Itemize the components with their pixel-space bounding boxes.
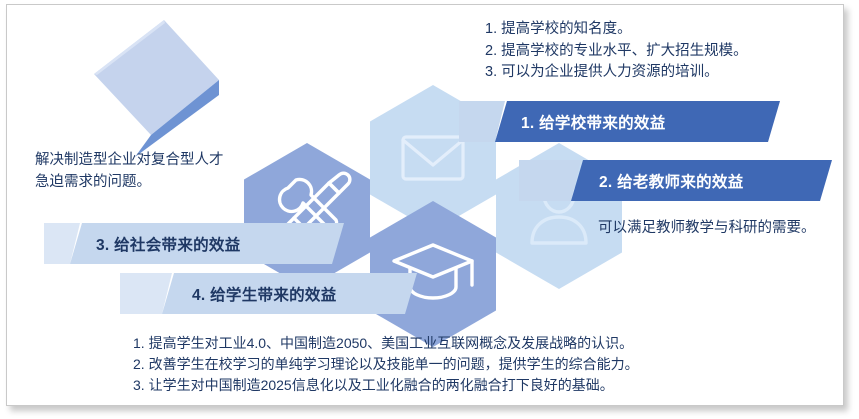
banner-3-label: 3. 给社会带来的效益	[44, 223, 396, 264]
banner-4[interactable]: 4. 给学生带来的效益	[120, 273, 417, 314]
bottom-list-item-2: 2. 改善学生在校学习的单纯学习理论以及技能单一的问题，提供学生的综合能力。	[133, 354, 639, 375]
top-list: 1. 提高学校的知名度。 2. 提高学校的专业水平、扩大招生规模。 3. 可以为…	[485, 19, 748, 84]
intro-line-2: 急迫需求的问题。	[35, 172, 224, 194]
hex-wrench[interactable]	[244, 143, 370, 289]
banner-2-label: 2. 给老教师来的效益	[519, 160, 844, 201]
banner-3[interactable]: 3. 给社会带来的效益	[44, 223, 344, 264]
ribbon-3d-icon	[89, 17, 224, 162]
top-list-item-2: 2. 提高学校的专业水平、扩大招生规模。	[485, 41, 748, 63]
slide-canvas: 1. 给学校带来的效益 2. 给老教师来的效益 3. 给社会带来的效益 4.	[0, 0, 859, 419]
teacher-note-line-1: 可以满足教师教学与科研的需要。	[598, 218, 816, 240]
bottom-list-item-3: 3. 让学生对中国制造2025信息化以及工业化融合的两化融合打下良好的基础。	[133, 375, 639, 396]
banner-1-label: 1. 给学校带来的效益	[459, 101, 842, 142]
intro-text: 解决制造型企业对复合型人才 急迫需求的问题。	[35, 150, 224, 193]
bottom-list: 1. 提高学生对工业4.0、中国制造2050、美国工业互联网概念及发展战略的认识…	[133, 333, 639, 396]
intro-line-1: 解决制造型企业对复合型人才	[35, 150, 224, 172]
ribbon-3d-decoration	[89, 17, 224, 162]
slide-card: 1. 给学校带来的效益 2. 给老教师来的效益 3. 给社会带来的效益 4.	[6, 4, 844, 406]
banner-2[interactable]: 2. 给老教师来的效益	[519, 160, 832, 201]
top-list-item-3: 3. 可以为企业提供人力资源的培训。	[485, 62, 748, 84]
banner-4-label: 4. 给学生带来的效益	[120, 273, 489, 314]
teacher-note: 可以满足教师教学与科研的需要。	[598, 218, 816, 240]
top-list-item-1: 1. 提高学校的知名度。	[485, 19, 748, 41]
bottom-list-item-1: 1. 提高学生对工业4.0、中国制造2050、美国工业互联网概念及发展战略的认识…	[133, 333, 639, 354]
banner-1[interactable]: 1. 给学校带来的效益	[459, 101, 780, 142]
